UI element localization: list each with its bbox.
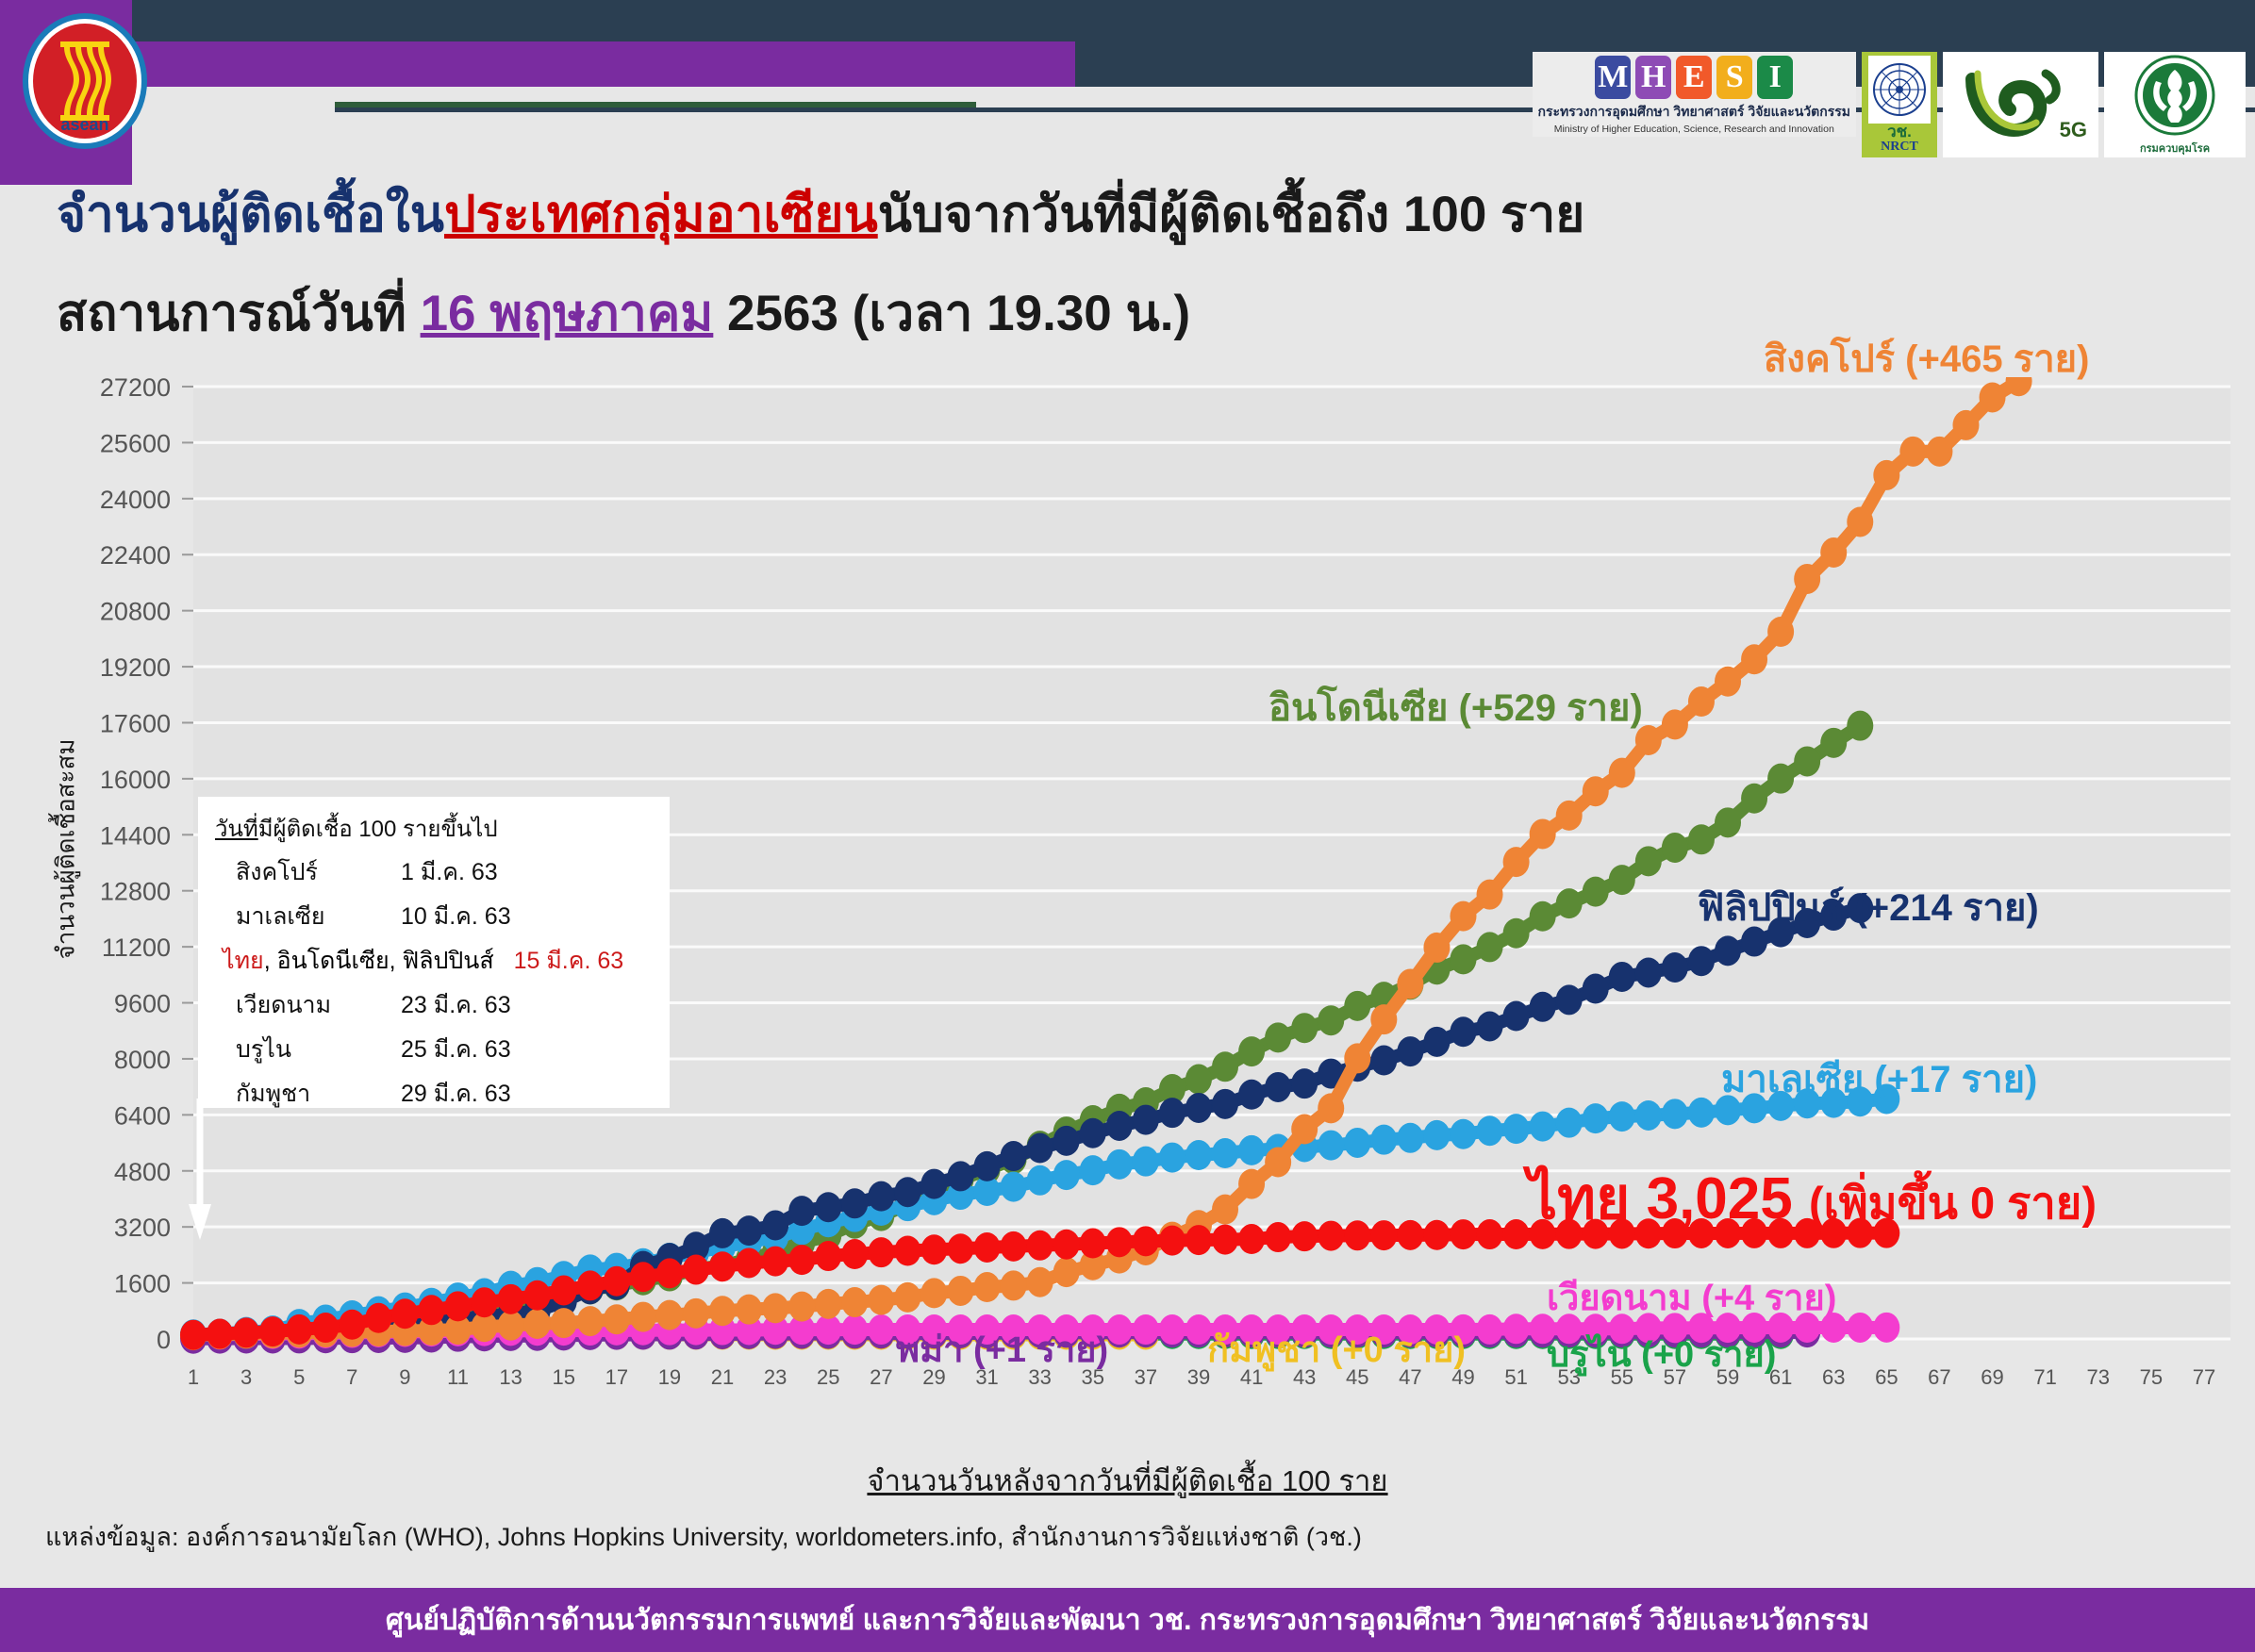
data-point [1662, 833, 1688, 863]
data-point [1238, 1224, 1265, 1254]
data-point [1106, 1314, 1133, 1345]
data-point [1133, 1314, 1159, 1345]
data-point [524, 1309, 551, 1339]
legend-country: สิงคโปร์ [236, 853, 401, 891]
data-point [1450, 901, 1476, 932]
legend-pointer-arrow [187, 1099, 213, 1242]
header-purple-bar [0, 41, 1075, 87]
data-point [788, 1196, 815, 1226]
data-point [1159, 1098, 1186, 1128]
data-point [1027, 1267, 1053, 1297]
x-tick-label: 11 [447, 1365, 469, 1389]
series-label-singapore: สิงคโปร์ (+465 ราย) [1764, 328, 2089, 388]
mhesi-letter-s: S [1716, 56, 1752, 99]
nrct-wheel-icon [1872, 60, 1927, 119]
x-tick-label: 25 [817, 1365, 839, 1389]
data-point [1583, 974, 1609, 1004]
data-point [815, 1192, 841, 1222]
data-point [1238, 1036, 1265, 1066]
thailand-delta: (เพิ่มขึ้น 0 ราย) [1809, 1178, 2097, 1228]
legend-heading: วันที่มีผู้ติดเชื้อ 100 รายขึ้นไป [215, 810, 653, 847]
y-tick-label: 25600 [100, 429, 171, 457]
moph-caption: กรมควบคุมโรค [2140, 140, 2210, 157]
data-point [1318, 1131, 1344, 1161]
data-point [577, 1270, 604, 1300]
data-point [1530, 818, 1556, 849]
partner-logos: M H E S I กระทรวงการอุดมศึกษา วิทยาศาสตร… [1533, 52, 2247, 160]
data-point [339, 1310, 365, 1340]
data-point [1583, 877, 1609, 907]
data-point [656, 1300, 683, 1330]
legend-country: กัมพูชา [236, 1075, 401, 1113]
data-point [577, 1306, 604, 1336]
data-point [1952, 410, 1979, 440]
data-point [1820, 728, 1847, 758]
data-point [472, 1287, 498, 1317]
mhesi-logo: M H E S I กระทรวงการอุดมศึกษา วิทยาศาสตร… [1533, 52, 1857, 137]
data-point [1767, 617, 1794, 647]
data-point [948, 1161, 974, 1191]
data-point [1556, 984, 1583, 1015]
data-point [1027, 1165, 1053, 1196]
data-point [391, 1298, 418, 1329]
series-label-indonesia: อินโดนีเซีย (+529 ราย) [1268, 677, 1643, 737]
mhesi-letter-e: E [1676, 56, 1712, 99]
data-point [868, 1314, 894, 1345]
y-tick-label: 12800 [100, 878, 171, 906]
data-point [1847, 506, 1873, 537]
data-point [1212, 1089, 1238, 1119]
data-point [1423, 1220, 1450, 1250]
x-tick-label: 67 [1928, 1365, 1950, 1389]
data-point [1662, 1099, 1688, 1129]
data-point [1344, 1043, 1370, 1073]
y-tick-label: 27200 [100, 377, 171, 402]
x-tick-labels: 1357911131517192123252729313335373941434… [188, 1365, 2215, 1389]
subtitle-date: 16 พฤษภาคม [421, 286, 714, 341]
data-point [604, 1304, 630, 1334]
series-label-myanmar: พม่า (+1 ราย) [896, 1320, 1108, 1378]
legend-date: 1 มี.ค. 63 [401, 853, 498, 891]
mhesi-letter-i: I [1757, 56, 1793, 99]
y-tick-labels: 1600320048006400800096001120012800144001… [100, 377, 171, 1354]
data-point [1001, 1172, 1027, 1202]
data-point [1767, 764, 1794, 794]
data-point [1556, 1108, 1583, 1138]
data-point [498, 1284, 524, 1314]
series-label-philippines: ฟิลิปปินส์ (+214 ราย) [1698, 877, 2039, 937]
data-point [1477, 1219, 1503, 1249]
legend-country: เวียดนาม [236, 986, 401, 1024]
data-point [1027, 1133, 1053, 1164]
y-tick-label-zero: 0 [157, 1326, 171, 1354]
mhesi-thai-name: กระทรวงการอุดมศึกษา วิทยาศาสตร์ วิจัยและ… [1538, 102, 1851, 123]
data-point [1503, 1313, 1530, 1344]
legend-row: มาเลเซีย 10 มี.ค. 63 [236, 898, 653, 935]
x-tick-label: 69 [1981, 1365, 2003, 1389]
legend-country: บรูไน [236, 1031, 401, 1068]
data-point [788, 1245, 815, 1275]
y-tick-label: 3200 [114, 1214, 171, 1242]
data-point [1873, 460, 1899, 490]
data-point [974, 1272, 1001, 1302]
data-point [1503, 918, 1530, 949]
data-point [920, 1234, 947, 1264]
data-point [920, 1169, 947, 1199]
data-point [709, 1296, 736, 1326]
y-tick-label: 8000 [114, 1046, 171, 1074]
data-point [1080, 1155, 1106, 1185]
x-tick-label: 65 [1875, 1365, 1898, 1389]
y-tick-label: 19200 [100, 653, 171, 682]
data-point [1926, 437, 1952, 467]
data-point [974, 1232, 1001, 1263]
data-point [1477, 880, 1503, 910]
data-point [1609, 865, 1635, 895]
legend-date: 29 มี.ค. 63 [401, 1075, 511, 1113]
series-label-malaysia: มาเลเซีย (+17 ราย) [1721, 1049, 2037, 1109]
x-tick-label: 17 [605, 1365, 628, 1389]
legend-heading-rest: มีผู้ติดเชื้อ 100 รายขึ้นไป [258, 817, 498, 842]
data-point [1688, 824, 1715, 854]
data-point [551, 1308, 577, 1338]
data-point [1715, 667, 1741, 697]
data-point [894, 1282, 920, 1313]
data-point [1583, 776, 1609, 806]
data-point [1053, 1230, 1080, 1260]
data-point [1530, 992, 1556, 1022]
nrct-logo: วช. NRCT [1862, 52, 1937, 157]
x-tick-label: 63 [1822, 1365, 1845, 1389]
data-point [1688, 946, 1715, 976]
data-point [1503, 1114, 1530, 1144]
x-tick-label: 13 [499, 1365, 522, 1389]
data-point [1186, 1140, 1212, 1170]
data-point [868, 1181, 894, 1212]
data-point [1106, 1111, 1133, 1141]
data-point [1080, 1229, 1106, 1259]
data-point [1662, 952, 1688, 983]
data-point [1133, 1105, 1159, 1135]
data-point [1370, 1046, 1397, 1076]
asean-logo-text: asean [60, 115, 108, 134]
data-point [762, 1247, 788, 1277]
x-tick-label: 51 [1504, 1365, 1527, 1389]
data-point [1635, 846, 1662, 876]
x-tick-label: 15 [552, 1365, 574, 1389]
data-point [1450, 1016, 1476, 1047]
mhesi-english-name: Ministry of Higher Education, Science, R… [1554, 124, 1834, 135]
data-point [1265, 1147, 1291, 1177]
data-point [683, 1255, 709, 1285]
data-point [1503, 1219, 1530, 1249]
data-point [1450, 1119, 1476, 1149]
data-point [1344, 1128, 1370, 1158]
footer-bar: ศูนย์ปฏิบัติการด้านนวัตกรรมการแพทย์ และก… [0, 1588, 2255, 1652]
y-tick-label: 9600 [114, 990, 171, 1018]
data-point [1238, 1080, 1265, 1110]
data-point [1265, 1022, 1291, 1052]
y-tick-label: 6400 [114, 1101, 171, 1130]
data-point [1212, 1225, 1238, 1255]
data-point [1001, 1270, 1027, 1300]
nrct-thai-abbr: วช. [1887, 124, 1912, 140]
legend-row: บรูไน 25 มี.ค. 63 [236, 1031, 653, 1068]
data-point [1477, 1115, 1503, 1146]
data-point [1159, 1314, 1186, 1345]
data-point [418, 1295, 444, 1325]
data-point [1503, 1001, 1530, 1032]
legend-date: 25 มี.ค. 63 [401, 1031, 511, 1068]
data-point [1027, 1231, 1053, 1261]
data-point [1265, 1222, 1291, 1252]
data-point [233, 1317, 259, 1347]
legend-date-highlight: 15 มี.ค. 63 [514, 948, 624, 974]
data-point [1635, 957, 1662, 987]
data-point [894, 1177, 920, 1207]
legend-row: สิงคโปร์ 1 มี.ค. 63 [236, 853, 653, 891]
data-point [1662, 709, 1688, 739]
data-point [1530, 1112, 1556, 1142]
data-point [1635, 1100, 1662, 1131]
data-point [1291, 1068, 1318, 1099]
data-point [1715, 935, 1741, 966]
data-point [1291, 1221, 1318, 1251]
data-point [1477, 1011, 1503, 1041]
data-point [762, 1293, 788, 1323]
series-label-cambodia: กัมพูชา (+0 ราย) [1207, 1320, 1466, 1378]
x-tick-label: 1 [188, 1365, 199, 1389]
moph-logo: กรมควบคุมโรค [2104, 52, 2246, 157]
data-point [1001, 1141, 1027, 1171]
y-tick-label: 1600 [114, 1270, 171, 1298]
y-axis-title: จำนวนผู้ติดเชื้อสะสม [47, 652, 86, 1048]
x-tick-label: 23 [764, 1365, 787, 1389]
legend-country: มาเลเซีย [236, 898, 401, 935]
data-point [1106, 1149, 1133, 1180]
data-point [312, 1313, 339, 1343]
data-point [286, 1314, 312, 1345]
data-point [1397, 1036, 1423, 1066]
data-point [1186, 1093, 1212, 1123]
x-tick-label: 71 [2033, 1365, 2056, 1389]
data-point [1450, 1219, 1476, 1249]
data-point [1741, 644, 1767, 674]
x-tick-label: 73 [2086, 1365, 2109, 1389]
data-point [736, 1215, 762, 1246]
data-point [1370, 1220, 1397, 1250]
legend-country-highlight: ไทย, อินโดนีเซีย, ฟิลิปปินส์ [223, 948, 494, 974]
x-tick-label: 75 [2140, 1365, 2163, 1389]
y-tick-label: 16000 [100, 766, 171, 794]
data-point [1873, 1313, 1899, 1343]
page-title-line2: สถานการณ์วันที่ 16 พฤษภาคม 2563 (เวลา 19… [57, 273, 1190, 353]
x-tick-label: 5 [293, 1365, 305, 1389]
data-point [1397, 968, 1423, 999]
data-point [1238, 1169, 1265, 1199]
title-part-navy: จำนวนผู้ติดเชื้อใน [57, 187, 444, 242]
data-point [1212, 1051, 1238, 1082]
data-point [1053, 1126, 1080, 1156]
header-navy-bar [0, 0, 2255, 41]
data-point [1423, 1027, 1450, 1057]
data-point [1133, 1147, 1159, 1177]
data-point [1344, 1220, 1370, 1250]
data-point [1001, 1231, 1027, 1262]
data-point [1053, 1257, 1080, 1287]
data-point [762, 1210, 788, 1240]
y-tick-label: 20800 [100, 598, 171, 626]
legend-date: 10 มี.ค. 63 [401, 898, 511, 935]
x-tick-label: 21 [711, 1365, 734, 1389]
data-point [524, 1280, 551, 1311]
nrct-english-abbr: NRCT [1881, 140, 1918, 155]
title-part-red: ประเทศกลุ่มอาเซียน [444, 187, 878, 242]
nrct-5g-logo: 5G [1943, 52, 2098, 157]
page-title-line1: จำนวนผู้ติดเชื้อในประเทศกลุ่มอาเซียนนับจ… [57, 174, 1584, 254]
data-point [1238, 1135, 1265, 1165]
data-point [1477, 1314, 1503, 1345]
data-point [1318, 1221, 1344, 1251]
data-point [1370, 1004, 1397, 1034]
legend-row: เวียดนาม 23 มี.ค. 63 [236, 986, 653, 1024]
data-point [1344, 991, 1370, 1021]
x-tick-label: 77 [2193, 1365, 2215, 1389]
data-point [604, 1266, 630, 1297]
data-point [1477, 932, 1503, 962]
data-point [1291, 1115, 1318, 1145]
data-point [1609, 962, 1635, 992]
x-axis-title: จำนวนวันหลังจากวันที่มีผู้ติดเชื้อ 100 ร… [0, 1457, 2255, 1504]
legend-row-highlighted: ไทย, อินโดนีเซีย, ฟิลิปปินส์ 15 มี.ค. 63 [223, 942, 653, 980]
data-point [1847, 1313, 1873, 1343]
x-tick-label: 19 [658, 1365, 681, 1389]
legend-row: กัมพูชา 29 มี.ค. 63 [236, 1075, 653, 1113]
x-tick-label: 37 [1135, 1365, 1157, 1389]
data-point [1820, 537, 1847, 568]
subtitle-suffix: 2563 (เวลา 19.30 น.) [713, 286, 1190, 341]
series-label-thailand: ไทย 3,025 (เพิ่มขึ้น 0 ราย) [1528, 1152, 2097, 1245]
badge-5g: 5G [2060, 118, 2087, 142]
data-point [1159, 1143, 1186, 1173]
title-part-black: นับจากวันที่มีผู้ติดเชื้อถึง 100 ราย [878, 187, 1585, 242]
data-point [948, 1233, 974, 1264]
data-point [841, 1314, 868, 1345]
data-point [736, 1295, 762, 1325]
data-point [1318, 1005, 1344, 1035]
y-tick-label: 11200 [102, 933, 171, 962]
data-point [1899, 437, 1926, 467]
data-point [1265, 1072, 1291, 1102]
data-point [788, 1292, 815, 1322]
data-point [709, 1251, 736, 1281]
data-point [1186, 1065, 1212, 1095]
data-point [736, 1247, 762, 1278]
data-point [1556, 801, 1583, 831]
mhesi-letter-h: H [1635, 56, 1671, 99]
y-tick-label: 4800 [114, 1158, 171, 1186]
data-point [1609, 1101, 1635, 1132]
data-point [1370, 1125, 1397, 1155]
y-tick-label: 14400 [100, 821, 171, 850]
data-point [1186, 1225, 1212, 1255]
y-tick-label: 24000 [100, 486, 171, 514]
data-point [180, 1320, 207, 1350]
data-point [656, 1258, 683, 1288]
data-point [498, 1311, 524, 1341]
y-tick-label: 17600 [100, 709, 171, 737]
data-point [630, 1262, 656, 1292]
data-point [1159, 1226, 1186, 1256]
series-label-brunei: บรูไน (+0 ราย) [1547, 1325, 1776, 1382]
data-point [1688, 686, 1715, 717]
source-note: แหล่งข้อมูล: องค์การอนามัยโลก (WHO), Joh… [45, 1516, 1362, 1557]
legend-heading-underlined: วันที่ [215, 817, 258, 842]
data-point [868, 1237, 894, 1267]
moph-emblem-icon [2130, 53, 2220, 140]
data-point [1318, 1093, 1344, 1123]
data-point [974, 1151, 1001, 1181]
data-point [1053, 1160, 1080, 1190]
subtitle-prefix: สถานการณ์วันที่ [57, 286, 421, 341]
data-point [1423, 1120, 1450, 1150]
data-point [1133, 1226, 1159, 1256]
data-point [365, 1303, 391, 1333]
data-point [683, 1298, 709, 1329]
data-point [1688, 1098, 1715, 1128]
legend-date: 23 มี.ค. 63 [401, 986, 511, 1024]
data-point [1450, 944, 1476, 974]
x-tick-label: 3 [240, 1365, 252, 1389]
data-point [1503, 847, 1530, 877]
thailand-total: ไทย 3,025 [1528, 1166, 1809, 1231]
footer-text: ศูนย์ปฏิบัติการด้านนวัตกรรมการแพทย์ และก… [386, 1598, 1869, 1643]
data-point [207, 1319, 233, 1349]
data-point [920, 1278, 947, 1308]
data-point [1106, 1227, 1133, 1257]
x-axis-title-text: จำนวนวันหลังจากวันที่มีผู้ติดเชื้อ 100 ร… [867, 1464, 1387, 1497]
data-point [1609, 758, 1635, 788]
data-point [630, 1302, 656, 1332]
data-point [1212, 1138, 1238, 1168]
data-point [948, 1276, 974, 1306]
data-point [1847, 711, 1873, 741]
data-point [1530, 901, 1556, 932]
data-point [1423, 933, 1450, 963]
data-point [841, 1188, 868, 1218]
data-point [1397, 1220, 1423, 1250]
series-label-vietnam: เวียดนาม (+4 ราย) [1547, 1268, 1836, 1326]
data-point [815, 1314, 841, 1345]
nrct-emblem [1868, 56, 1931, 124]
asean-logo: asean [19, 9, 151, 153]
data-point [894, 1236, 920, 1266]
data-point [868, 1285, 894, 1315]
onset-dates-legend-box: วันที่มีผู้ติดเชื้อ 100 รายขึ้นไป สิงคโป… [198, 797, 670, 1108]
data-point [815, 1289, 841, 1319]
data-point [1291, 1013, 1318, 1043]
data-point [1080, 1118, 1106, 1148]
data-point [1583, 1103, 1609, 1133]
data-point [1556, 888, 1583, 918]
data-point [1212, 1195, 1238, 1225]
data-point [709, 1218, 736, 1248]
mhesi-letter-m: M [1595, 56, 1631, 99]
data-point [1397, 1123, 1423, 1153]
data-point [1794, 746, 1820, 776]
x-tick-label: 9 [399, 1365, 410, 1389]
data-point [1741, 784, 1767, 814]
